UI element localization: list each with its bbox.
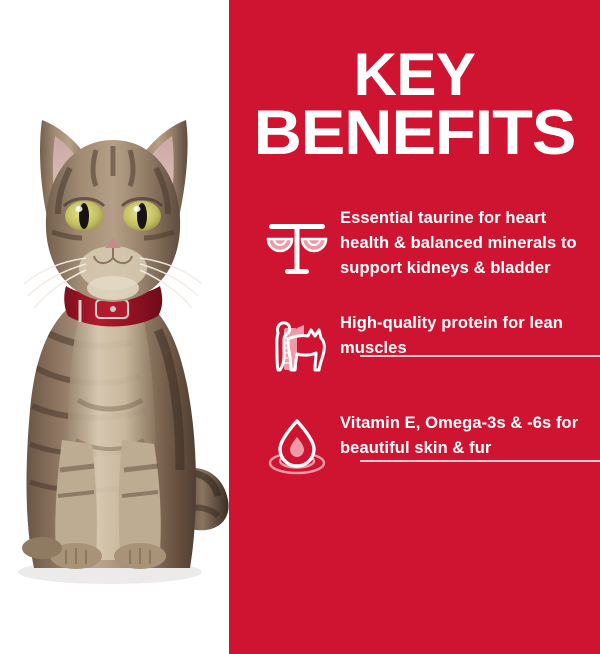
cat-photo-panel (0, 0, 229, 654)
benefit-text-protein: High-quality protein for lean muscles (334, 311, 582, 361)
headline-line-1: KEY (229, 46, 600, 104)
benefits-list: Essential taurine for heart health & bal… (229, 206, 600, 477)
benefits-panel: KEY BENEFITS (229, 0, 600, 654)
benefit-item-skin-fur: Vitamin E, Omega-3s & -6s for beautiful … (229, 411, 600, 477)
balance-scale-icon (260, 206, 334, 278)
key-benefits-poster: KEY BENEFITS (0, 0, 600, 654)
benefit-item-taurine: Essential taurine for heart health & bal… (229, 206, 600, 281)
benefit-text-taurine: Essential taurine for heart health & bal… (334, 206, 582, 281)
page-title: KEY BENEFITS (229, 46, 600, 162)
benefit-text-skin-fur: Vitamin E, Omega-3s & -6s for beautiful … (334, 411, 582, 461)
cat-measuring-tape-icon (260, 311, 334, 377)
water-droplet-icon (260, 411, 334, 477)
benefit-item-protein: High-quality protein for lean muscles (229, 311, 600, 377)
cat-illustration (0, 0, 229, 654)
cat-photo (0, 0, 229, 654)
headline-line-2: BENEFITS (218, 104, 600, 162)
